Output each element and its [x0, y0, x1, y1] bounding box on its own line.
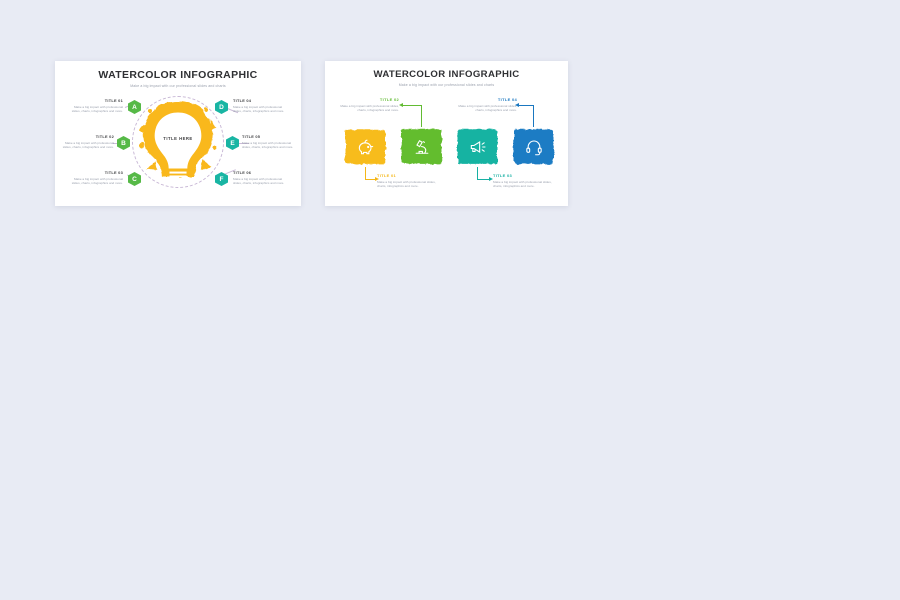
slide1-diagram: TITLE HERE A B C D E F TITLE 01 Make a b…	[55, 88, 301, 200]
badge-b[interactable]: B	[117, 136, 130, 150]
megaphone-icon	[468, 137, 488, 157]
item-body-06: Make a big impact with professional slid…	[233, 177, 289, 186]
item-text-06: TITLE 06 Make a big impact with professi…	[233, 170, 289, 186]
screenshot-stage: WATERCOLOR INFOGRAPHIC Make a big impact…	[0, 0, 900, 600]
item-body-02: Make a big impact with professional slid…	[58, 141, 114, 150]
badge-e[interactable]: E	[226, 136, 239, 150]
square-text-01: TITLE 01 Make a big impact with professi…	[377, 173, 439, 189]
square-title-03: TITLE 03	[493, 173, 555, 178]
square-text-02: TITLE 02 Make a big impact with professi…	[337, 97, 399, 113]
watercolor-square-02[interactable]	[399, 127, 444, 167]
slide-card-circular-lightbulb[interactable]: WATERCOLOR INFOGRAPHIC Make a big impact…	[55, 61, 301, 206]
item-title-02: TITLE 02	[58, 134, 114, 139]
item-body-01: Make a big impact with professional slid…	[67, 105, 123, 114]
square-text-03: TITLE 03 Make a big impact with professi…	[493, 173, 555, 189]
item-title-01: TITLE 01	[67, 98, 123, 103]
slide-card-four-squares[interactable]: WATERCOLOR INFOGRAPHIC Make a big impact…	[325, 61, 568, 206]
square-body-04: Make a big impact with professional slid…	[455, 104, 517, 113]
slide2-title: WATERCOLOR INFOGRAPHIC	[325, 69, 568, 80]
square-title-01: TITLE 01	[377, 173, 439, 178]
microscope-icon	[412, 137, 432, 157]
watercolor-lightbulb-graphic: TITLE HERE	[139, 100, 217, 184]
square-title-04: TITLE 04	[455, 97, 517, 102]
item-text-03: TITLE 03 Make a big impact with professi…	[67, 170, 123, 186]
item-text-05: TITLE 05 Make a big impact with professi…	[242, 134, 298, 150]
headset-icon	[524, 137, 544, 157]
item-title-04: TITLE 04	[233, 98, 289, 103]
item-title-06: TITLE 06	[233, 170, 289, 175]
item-title-03: TITLE 03	[67, 170, 123, 175]
item-body-04: Make a big impact with professional slid…	[233, 105, 289, 114]
slide2-header: WATERCOLOR INFOGRAPHIC Make a big impact…	[325, 61, 568, 87]
square-body-02: Make a big impact with professional slid…	[337, 104, 399, 113]
item-body-03: Make a big impact with professional slid…	[67, 177, 123, 186]
piggy-bank-icon	[356, 137, 376, 157]
square-body-01: Make a big impact with professional slid…	[377, 180, 439, 189]
square-body-03: Make a big impact with professional slid…	[493, 180, 555, 189]
center-title-label: TITLE HERE	[139, 136, 217, 141]
slide1-title: WATERCOLOR INFOGRAPHIC	[55, 69, 301, 81]
watercolor-square-01[interactable]	[343, 127, 388, 167]
square-text-04: TITLE 04 Make a big impact with professi…	[455, 97, 517, 113]
slide2-diagram: TITLE 02 Make a big impact with professi…	[325, 87, 568, 199]
watercolor-square-03[interactable]	[455, 127, 500, 167]
item-body-05: Make a big impact with professional slid…	[242, 141, 298, 150]
item-text-04: TITLE 04 Make a big impact with professi…	[233, 98, 289, 114]
item-title-05: TITLE 05	[242, 134, 298, 139]
watercolor-square-04[interactable]	[511, 127, 556, 167]
item-text-01: TITLE 01 Make a big impact with professi…	[67, 98, 123, 114]
square-title-02: TITLE 02	[337, 97, 399, 102]
slide1-header: WATERCOLOR INFOGRAPHIC Make a big impact…	[55, 61, 301, 88]
item-text-02: TITLE 02 Make a big impact with professi…	[58, 134, 114, 150]
